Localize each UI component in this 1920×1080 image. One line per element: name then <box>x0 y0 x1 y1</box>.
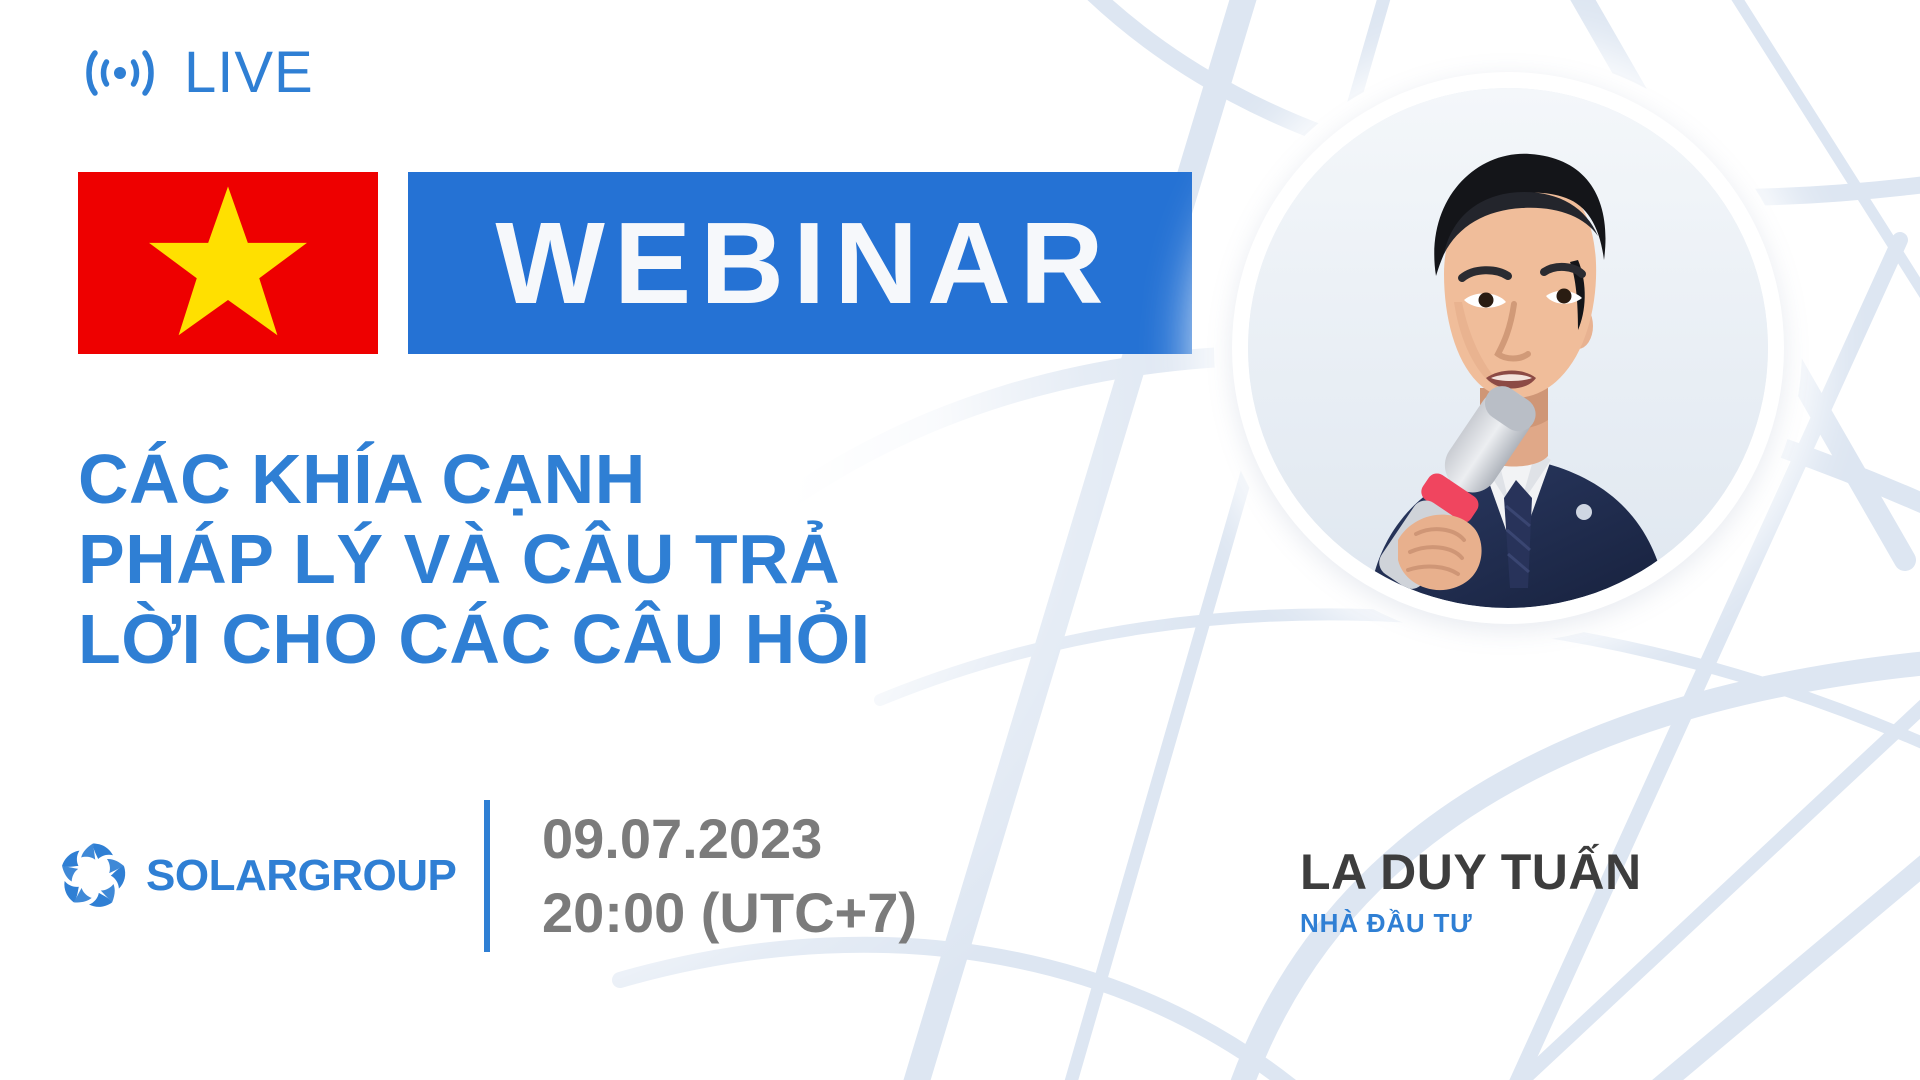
speaker-caption: LA DUY TUẤN NHÀ ĐẦU TƯ <box>1300 846 1860 937</box>
event-date: 09.07.2023 <box>542 811 917 867</box>
solargroup-logo: SOLARGROUP <box>56 839 476 913</box>
yellow-star-icon <box>144 183 312 343</box>
headline-line-3: LỜI CHO CÁC CÂU HỎI <box>78 600 998 680</box>
brand-and-schedule: SOLARGROUP 09.07.2023 20:00 (UTC+7) <box>56 800 917 952</box>
webinar-label: WEBINAR <box>487 205 1112 321</box>
brand-name: SOLARGROUP <box>146 854 456 898</box>
speaker-role: NHÀ ĐẦU TƯ <box>1300 909 1860 938</box>
vertical-divider <box>484 800 490 952</box>
live-label: LIVE <box>184 44 314 102</box>
broadcast-signal-icon <box>78 42 162 104</box>
solargroup-pinwheel-icon <box>56 839 130 913</box>
page-title: CÁC KHÍA CẠNH PHÁP LÝ VÀ CÂU TRẢ LỜI CHO… <box>78 440 998 679</box>
vietnam-flag-icon <box>78 172 378 354</box>
headline-line-2: PHÁP LÝ VÀ CÂU TRẢ <box>78 520 998 600</box>
webinar-plate: WEBINAR <box>408 172 1192 354</box>
event-time: 20:00 (UTC+7) <box>542 885 917 941</box>
headline-line-1: CÁC KHÍA CẠNH <box>78 440 998 520</box>
schedule-block: 09.07.2023 20:00 (UTC+7) <box>542 811 917 941</box>
webinar-banner-row: WEBINAR <box>78 172 1192 354</box>
speaker-portrait <box>1248 88 1768 608</box>
avatar <box>1248 88 1768 608</box>
webinar-banner: LIVE WEBINAR CÁC KHÍA CẠNH PHÁP LÝ VÀ CÂ… <box>0 0 1920 1080</box>
speaker-name: LA DUY TUẤN <box>1300 846 1860 899</box>
live-badge: LIVE <box>78 42 314 104</box>
